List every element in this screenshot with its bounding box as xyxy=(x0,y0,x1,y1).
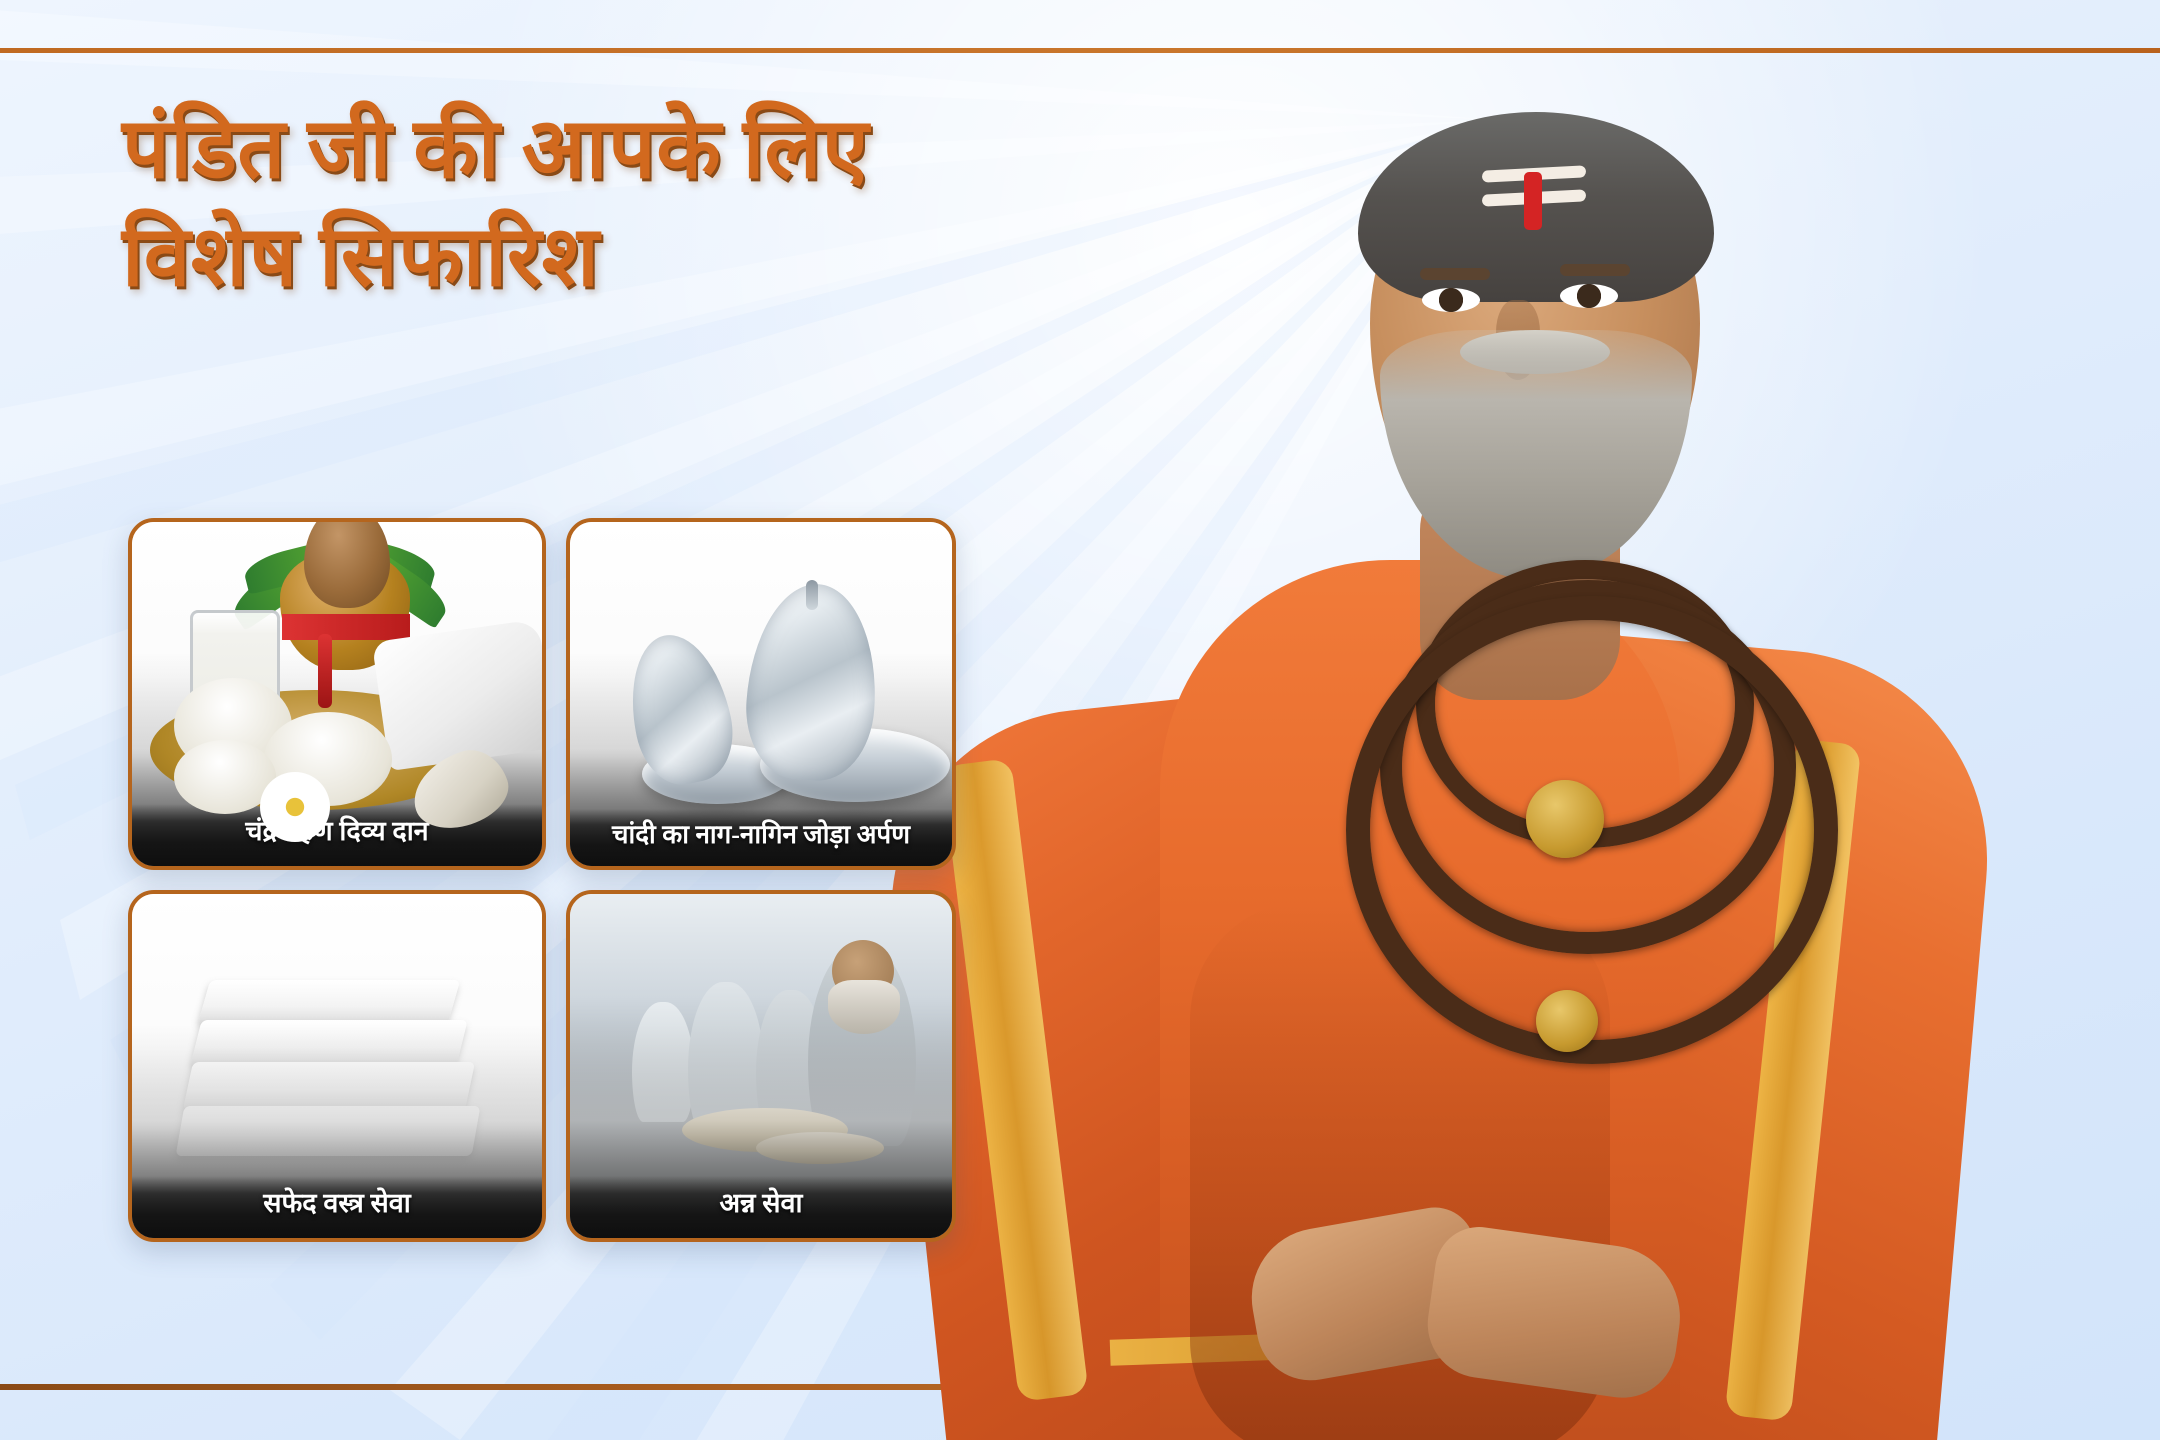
offering-card-safed-vastra-seva[interactable]: सफेद वस्त्र सेवा xyxy=(128,890,546,1242)
mala-pendant xyxy=(1536,990,1598,1052)
offering-card-chandra-grahan-divya-daan[interactable]: चंद्र ग्रहण दिव्य दान xyxy=(128,518,546,870)
offering-card-anna-seva[interactable]: अन्न सेवा xyxy=(566,890,956,1242)
card-label: अन्न सेवा xyxy=(570,1176,952,1238)
card-label: सफेद वस्त्र सेवा xyxy=(132,1176,542,1238)
card-label: चांदी का नाग-नागिन जोड़ा अर्पण xyxy=(570,809,952,866)
promo-banner: पंडित जी की आपके लिए विशेष सिफारिश xyxy=(0,0,2160,1440)
offering-card-grid: चंद्र ग्रहण दिव्य दान चांदी का नाग-नागिन… xyxy=(128,518,948,1242)
mala-pendant xyxy=(1526,780,1604,858)
page-title: पंडित जी की आपके लिए विशेष सिफारिश xyxy=(122,96,1302,311)
offering-card-chandi-naag-nagin-joda-arpan[interactable]: चांदी का नाग-नागिन जोड़ा अर्पण xyxy=(566,518,956,870)
page-title-line-2: विशेष सिफारिश xyxy=(122,204,1302,312)
tilak-red-icon xyxy=(1524,172,1542,230)
page-title-line-1: पंडित जी की आपके लिए xyxy=(122,96,1302,204)
